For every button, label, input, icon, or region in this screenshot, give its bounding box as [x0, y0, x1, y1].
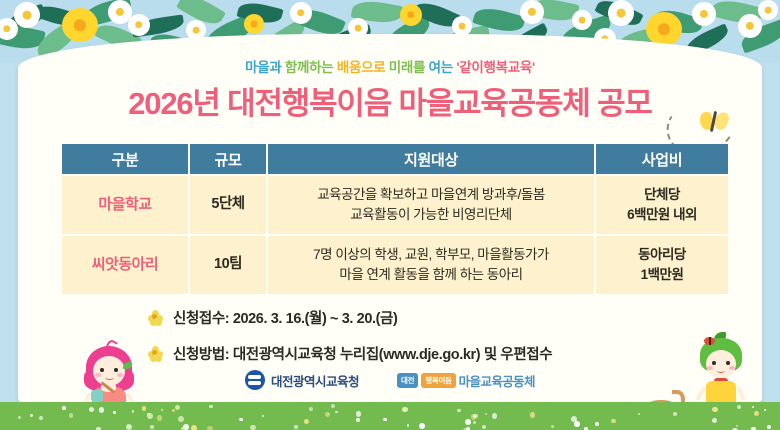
- ladybug-icon: [704, 337, 715, 345]
- grass-blossom-icon: [752, 406, 754, 408]
- grass-blossom-icon: [673, 412, 677, 416]
- white-blossom-icon: [692, 2, 716, 26]
- grass-blossom-icon: [595, 422, 599, 426]
- poster-root: 마을과 함께하는 배움으로 미래를 여는 '같이행복교육' 2026년 대전행복…: [0, 0, 780, 430]
- table-header-scale: 규모: [190, 144, 266, 174]
- row-cost-line1: 단체당: [644, 187, 680, 202]
- grass-footer: [0, 402, 780, 430]
- grass-blossom-icon: [356, 418, 359, 421]
- grass-blossom-icon: [638, 413, 640, 415]
- flower-icon: [148, 310, 163, 325]
- dje-office-logo-text: 대전광역시교육청: [271, 371, 359, 390]
- content-card: 마을과 함께하는 배움으로 미래를 여는 '같이행복교육' 2026년 대전행복…: [18, 34, 762, 402]
- grass-blossom-icon: [335, 411, 337, 413]
- subtitle-segment-4: 여는: [425, 60, 453, 75]
- row-category: 마을학교: [62, 176, 188, 234]
- grass-blossom-icon: [239, 418, 242, 421]
- grass-blossom-icon: [191, 425, 197, 430]
- grass-blossom-icon: [407, 424, 409, 426]
- row-scale: 5단체: [190, 176, 266, 234]
- poster-subtitle: 마을과 함께하는 배움으로 미래를 여는 '같이행복교육': [18, 56, 762, 76]
- row-category: 씨앗동아리: [62, 236, 188, 294]
- dog-mascot: [630, 386, 692, 402]
- dje-emblem-icon: [245, 370, 265, 390]
- grass-blossom-icon: [142, 406, 147, 411]
- subtitle-segment-2: 배움으로: [333, 60, 385, 75]
- table-row: 마을학교 5단체 교육공간을 확보하고 마을연계 방과후/돌봄 교육활동이 가능…: [62, 176, 728, 234]
- poster-title: 2026년 대전행복이음 마을교육공동체 공모: [18, 78, 762, 123]
- table-header-target: 지원대상: [268, 144, 594, 174]
- grass-blossom-icon: [754, 411, 760, 417]
- grass-blossom-icon: [209, 405, 213, 409]
- row-target-line2: 마을 연계 활동을 함께 하는 동아리: [339, 267, 522, 282]
- subtitle-segment-0: 마을과: [245, 60, 281, 75]
- grass-blossom-icon: [89, 407, 94, 412]
- info-row-application-period: 신청접수: 2026. 3. 16.(월) ~ 3. 20.(금): [148, 302, 668, 332]
- white-blossom-icon: [572, 10, 592, 30]
- logo-chip-daejeon: 대전: [397, 373, 418, 388]
- subtitle-segment-5: '같이행복교육': [453, 60, 535, 75]
- grass-blossom-icon: [62, 406, 66, 410]
- white-blossom-icon: [520, 0, 544, 24]
- village-community-logo-text: 마을교육공동체: [459, 371, 535, 390]
- grass-blossom-icon: [383, 418, 387, 422]
- grass-blossom-icon: [18, 416, 21, 419]
- grass-blossom-icon: [294, 425, 298, 429]
- white-blossom-icon: [14, 2, 40, 28]
- white-blossom-icon: [128, 14, 150, 36]
- grass-blossom-icon: [473, 421, 476, 424]
- grass-blossom-icon: [304, 419, 309, 424]
- grass-blossom-icon: [150, 425, 154, 429]
- grass-blossom-icon: [737, 405, 741, 409]
- grass-blossom-icon: [473, 414, 478, 419]
- row-cost: 동아리당 1백만원: [596, 236, 728, 294]
- row-target: 교육공간을 확보하고 마을연계 방과후/돌봄 교육활동이 가능한 비영리단체: [268, 176, 594, 234]
- row-cost: 단체당 6백만원 내외: [596, 176, 728, 234]
- grass-blossom-icon: [574, 421, 580, 427]
- yellow-blossom-icon: [400, 4, 422, 26]
- grass-blossom-icon: [172, 409, 175, 412]
- subtitle-segment-1: 함께하는: [281, 60, 333, 75]
- grass-blossom-icon: [584, 427, 588, 430]
- grass-blossom-icon: [419, 423, 425, 429]
- grass-blossom-icon: [551, 425, 554, 428]
- girl-mascot: [74, 340, 152, 402]
- row-target-line2: 교육활동이 가능한 비영리단체: [350, 207, 511, 222]
- grass-blossom-icon: [161, 409, 163, 411]
- grass-blossom-icon: [207, 426, 212, 430]
- row-cost-line2: 6백만원 내외: [627, 207, 697, 222]
- white-blossom-icon: [452, 16, 472, 36]
- table-header-cost: 사업비: [596, 144, 728, 174]
- grass-blossom-icon: [764, 409, 766, 411]
- row-cost-line1: 동아리당: [638, 247, 686, 262]
- grass-blossom-icon: [113, 411, 116, 414]
- table-header-category: 구분: [62, 144, 188, 174]
- grass-blossom-icon: [712, 407, 718, 413]
- program-table: 구분 규모 지원대상 사업비 마을학교 5단체 교육공간을 확보하고 마을연계 …: [60, 142, 730, 296]
- grass-blossom-icon: [178, 416, 184, 422]
- yellow-blossom-icon: [62, 8, 98, 42]
- grass-blossom-icon: [30, 414, 33, 417]
- grass-blossom-icon: [331, 404, 335, 408]
- row-target-line1: 교육공간을 확보하고 마을연계 방과후/돌봄: [317, 187, 545, 202]
- grass-blossom-icon: [482, 425, 486, 429]
- grass-blossom-icon: [69, 413, 74, 418]
- row-scale: 10팀: [190, 236, 266, 294]
- grass-blossom-icon: [356, 411, 362, 417]
- grass-blossom-icon: [175, 405, 180, 410]
- yellow-blossom-icon: [646, 12, 682, 46]
- info-row-application-method: 신청방법: 대전광역시교육청 누리집(www.dje.go.kr) 및 우편접수: [148, 338, 668, 368]
- village-community-logo: 대전 행복이음 마을교육공동체: [397, 371, 535, 390]
- subtitle-segment-3: 미래를: [385, 60, 425, 75]
- grass-blossom-icon: [611, 419, 616, 424]
- info-block: 신청접수: 2026. 3. 16.(월) ~ 3. 20.(금) 신청방법: …: [148, 302, 668, 368]
- grass-blossom-icon: [147, 413, 153, 419]
- grass-blossom-icon: [457, 409, 460, 412]
- row-cost-line2: 1백만원: [641, 267, 684, 282]
- row-target-line1: 7명 이상의 학생, 교원, 학부모, 마을활동가가: [313, 247, 549, 262]
- grass-blossom-icon: [39, 416, 43, 420]
- table-header-row: 구분 규모 지원대상 사업비: [62, 144, 728, 174]
- white-blossom-icon: [738, 14, 762, 38]
- grass-blossom-icon: [99, 407, 104, 412]
- grass-blossom-icon: [402, 407, 407, 412]
- grass-blossom-icon: [250, 425, 256, 430]
- grass-blossom-icon: [309, 407, 313, 411]
- white-blossom-icon: [608, 0, 634, 26]
- grass-blossom-icon: [325, 412, 330, 417]
- info-text: 신청접수: 2026. 3. 16.(월) ~ 3. 20.(금): [173, 307, 397, 328]
- grass-blossom-icon: [485, 413, 487, 415]
- dje-office-logo: 대전광역시교육청: [245, 370, 359, 390]
- boy-mascot: [686, 334, 758, 402]
- white-blossom-icon: [758, 0, 778, 20]
- row-target: 7명 이상의 학생, 교원, 학부모, 마을활동가가 마을 연계 활동을 함께 …: [268, 236, 594, 294]
- grass-blossom-icon: [157, 415, 162, 420]
- info-text: 신청방법: 대전광역시교육청 누리집(www.dje.go.kr) 및 우편접수: [173, 343, 552, 364]
- table-row: 씨앗동아리 10팀 7명 이상의 학생, 교원, 학부모, 마을활동가가 마을 …: [62, 236, 728, 294]
- grass-blossom-icon: [712, 418, 718, 424]
- grass-blossom-icon: [465, 419, 471, 425]
- satchel-icon: [91, 390, 103, 402]
- logo-chip-haengbokium: 행복이음: [421, 373, 455, 388]
- grass-blossom-icon: [183, 424, 189, 430]
- grass-blossom-icon: [530, 412, 536, 418]
- grass-blossom-icon: [492, 413, 498, 419]
- white-blossom-icon: [290, 2, 312, 24]
- butterfly-icon: [700, 112, 728, 132]
- grass-blossom-icon: [132, 410, 134, 412]
- grass-blossom-icon: [262, 415, 265, 418]
- yellow-blossom-icon: [244, 14, 264, 34]
- grass-blossom-icon: [767, 425, 771, 429]
- grass-blossom-icon: [736, 425, 738, 427]
